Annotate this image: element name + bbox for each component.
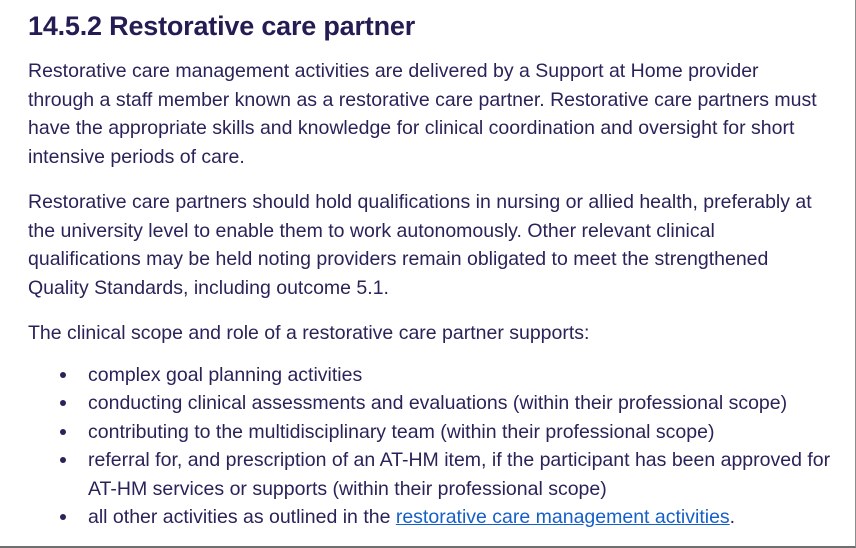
list-item-with-link: all other activities as outlined in the … [28, 503, 837, 532]
clinical-scope-list: complex goal planning activities conduct… [28, 361, 837, 532]
restorative-care-management-activities-link[interactable]: restorative care management activities [396, 506, 730, 528]
list-item: conducting clinical assessments and eval… [28, 389, 837, 418]
list-intro-text: The clinical scope and role of a restora… [28, 319, 818, 348]
list-item-label: referral for, and prescription of an AT-… [88, 449, 830, 500]
list-item-label-suffix: . [730, 506, 735, 528]
list-item: referral for, and prescription of an AT-… [28, 446, 837, 503]
list-item-label: complex goal planning activities [88, 364, 362, 386]
body-paragraph-2: Restorative care partners should hold qu… [28, 188, 818, 302]
list-item: complex goal planning activities [28, 361, 837, 390]
list-item-label-prefix: all other activities as outlined in the [88, 506, 396, 528]
document-content: 14.5.2 Restorative care partner Restorat… [0, 0, 855, 532]
list-item-label: conducting clinical assessments and eval… [88, 392, 787, 414]
body-paragraph-1: Restorative care management activities a… [28, 57, 818, 171]
bullet-point-icon [60, 514, 66, 520]
bullet-point-icon [60, 429, 66, 435]
bullet-point-icon [60, 457, 66, 463]
list-item: contributing to the multidisciplinary te… [28, 418, 837, 447]
page-title: 14.5.2 Restorative care partner [28, 9, 837, 43]
list-item-label: contributing to the multidisciplinary te… [88, 421, 714, 443]
bullet-point-icon [60, 400, 66, 406]
document-page: 14.5.2 Restorative care partner Restorat… [0, 0, 856, 548]
bullet-point-icon [60, 372, 66, 378]
